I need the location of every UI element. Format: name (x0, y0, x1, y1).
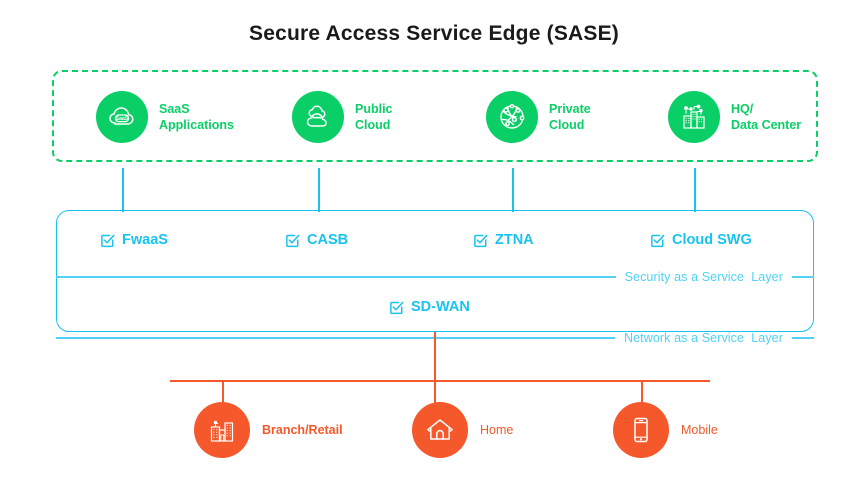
public-cloud-icon (292, 91, 344, 143)
checkbox-icon (100, 233, 115, 248)
sase-diagram: Secure Access Service Edge (SASE) SaaS S… (0, 0, 868, 488)
cloud-item-public-cloud[interactable]: Public Cloud (292, 92, 393, 142)
svg-text:SaaS: SaaS (116, 116, 129, 122)
connector-public-cloud (318, 168, 320, 212)
page-title: Secure Access Service Edge (SASE) (0, 22, 868, 46)
service-item-fwaas[interactable]: FwaaS (100, 232, 168, 248)
checkbox-icon (389, 300, 404, 315)
buildings-icon (194, 402, 250, 458)
edge-item-label: Home (480, 423, 513, 437)
service-item-sd-wan[interactable]: SD-WAN (389, 299, 470, 315)
connector-mobile (641, 380, 643, 404)
service-item-casb[interactable]: CASB (285, 232, 348, 248)
connector-saas (122, 168, 124, 212)
connector-home (434, 380, 436, 404)
cloud-item-private-cloud[interactable]: Private Cloud (486, 92, 591, 142)
saas-cloud-icon: SaaS (96, 91, 148, 143)
smartphone-icon (613, 402, 669, 458)
service-item-label: SD-WAN (411, 299, 470, 315)
edge-item-branch-retail[interactable]: Branch/Retail (194, 402, 343, 458)
cloud-item-hq-data-center[interactable]: HQ/ Data Center (668, 92, 801, 142)
cloud-item-label: Private Cloud (549, 101, 591, 134)
security-layer-divider: Security as a Service Layer (56, 270, 814, 284)
connector-private-cloud (512, 168, 514, 212)
edge-item-home[interactable]: Home (412, 402, 513, 458)
security-layer-label: Security as a Service Layer (616, 270, 792, 284)
private-cloud-globe-icon (486, 91, 538, 143)
edge-item-mobile[interactable]: Mobile (613, 402, 718, 458)
service-item-label: FwaaS (122, 232, 168, 248)
connector-edge-bus (170, 380, 710, 382)
service-item-ztna[interactable]: ZTNA (473, 232, 534, 248)
data-center-building-icon (668, 91, 720, 143)
network-layer-label: Network as a Service Layer (615, 331, 792, 345)
checkbox-icon (650, 233, 665, 248)
checkbox-icon (285, 233, 300, 248)
service-item-cloud-swg[interactable]: Cloud SWG (650, 232, 752, 248)
connector-branch-retail (222, 380, 224, 404)
service-item-label: ZTNA (495, 232, 534, 248)
service-item-label: Cloud SWG (672, 232, 752, 248)
cloud-item-label: SaaS Applications (159, 101, 234, 134)
connector-hq-data-center (694, 168, 696, 212)
edge-item-label: Mobile (681, 423, 718, 437)
checkbox-icon (473, 233, 488, 248)
cloud-item-saas-applications[interactable]: SaaS SaaS Applications (96, 92, 234, 142)
service-item-label: CASB (307, 232, 348, 248)
cloud-item-label: Public Cloud (355, 101, 393, 134)
cloud-item-label: HQ/ Data Center (731, 101, 801, 134)
house-icon (412, 402, 468, 458)
connector-edge-trunk (434, 332, 436, 380)
edge-item-label: Branch/Retail (262, 423, 343, 437)
